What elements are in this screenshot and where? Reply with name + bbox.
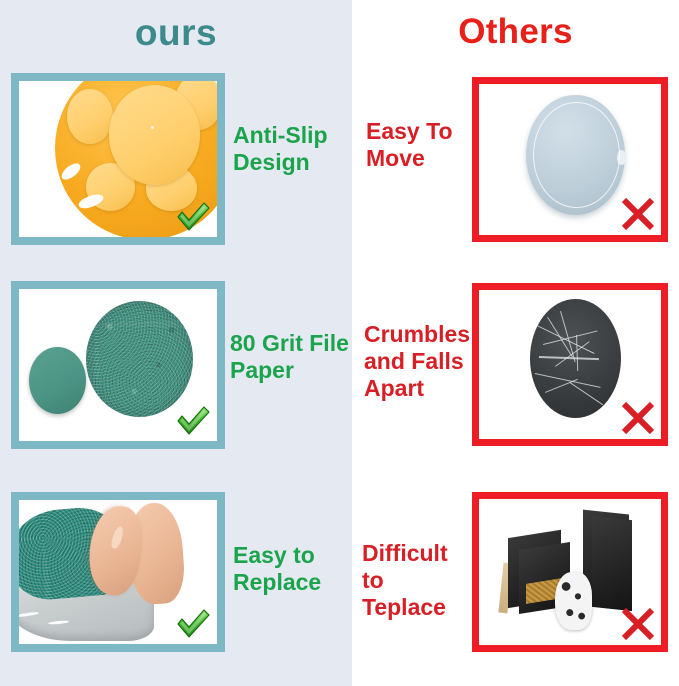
ours-caption-1-line2: Design xyxy=(233,149,351,176)
others-caption-1: Easy To Move xyxy=(366,118,470,172)
ours-image-frame-1 xyxy=(11,73,225,245)
disc-notch xyxy=(617,150,626,164)
dalmatian-print-illustration xyxy=(555,572,591,630)
scratch-line xyxy=(535,373,601,388)
others-caption-2-line2: and Falls xyxy=(364,348,470,375)
comparison-row-1: Anti-Slip Design Easy To Move xyxy=(0,70,679,248)
green-check-icon xyxy=(173,197,213,235)
others-product-photo-2 xyxy=(479,290,661,439)
dark-scratched-disc-illustration xyxy=(530,299,621,418)
others-caption-3: Difficult to Teplace xyxy=(362,540,474,621)
scratch-line xyxy=(539,356,599,360)
thumbnail xyxy=(109,525,125,550)
others-product-photo-1 xyxy=(479,84,661,235)
scratch-line xyxy=(545,379,577,393)
others-caption-2-line3: Apart xyxy=(364,375,470,402)
ours-caption-3-line2: Replace xyxy=(233,569,351,596)
ours-caption-3-line1: Easy to xyxy=(233,542,351,569)
comparison-row-3: Easy to Replace Difficult to Teplace xyxy=(0,492,679,656)
red-cross-icon xyxy=(617,194,659,234)
others-caption-2: Crumbles and Falls Apart xyxy=(364,321,470,402)
others-heading: Others xyxy=(352,14,679,49)
others-image-frame-2 xyxy=(472,283,668,446)
ours-product-photo-2 xyxy=(19,289,217,441)
anti-slip-pad xyxy=(67,89,113,144)
others-caption-1-line1: Easy To xyxy=(366,118,470,145)
ours-image-frame-2 xyxy=(11,281,225,449)
others-image-frame-1 xyxy=(472,77,668,242)
others-caption-3-line1: Difficult xyxy=(362,540,474,567)
comparison-row-2: 80 Grit File Paper Crumbles and Falls Ap… xyxy=(0,281,679,453)
base-highlight xyxy=(48,620,69,625)
ours-caption-2-line1: 80 Grit File xyxy=(230,330,352,357)
anti-slip-pad-center xyxy=(109,85,200,184)
grit-texture xyxy=(86,301,193,417)
ours-product-photo-1 xyxy=(19,81,217,237)
others-product-photo-3 xyxy=(479,499,661,645)
ours-image-frame-3 xyxy=(11,492,225,652)
ours-caption-2: 80 Grit File Paper xyxy=(230,330,352,384)
ours-product-photo-3 xyxy=(19,500,217,644)
others-caption-1-line2: Move xyxy=(366,145,470,172)
ours-caption-1-line1: Anti-Slip xyxy=(233,122,351,149)
others-caption-3-line2: to Teplace xyxy=(362,567,474,621)
ours-caption-1: Anti-Slip Design xyxy=(233,122,351,176)
ours-caption-2-line2: Paper xyxy=(230,357,352,384)
others-image-frame-3 xyxy=(472,492,668,652)
scratch-line xyxy=(555,341,589,366)
black-panel-illustration xyxy=(592,516,632,611)
blue-disc-illustration xyxy=(526,95,624,216)
ours-caption-3: Easy to Replace xyxy=(233,542,351,596)
large-grit-disc-illustration xyxy=(86,301,193,417)
rim-highlight xyxy=(59,161,83,183)
base-highlight xyxy=(19,611,39,618)
others-caption-2-line1: Crumbles xyxy=(364,321,470,348)
ours-heading: ours xyxy=(0,14,352,51)
green-check-icon xyxy=(173,401,213,439)
green-check-icon xyxy=(173,604,213,642)
red-cross-icon xyxy=(617,398,659,438)
scratch-line xyxy=(576,335,578,371)
small-grit-disc-illustration xyxy=(29,347,86,414)
red-cross-icon xyxy=(617,604,659,644)
